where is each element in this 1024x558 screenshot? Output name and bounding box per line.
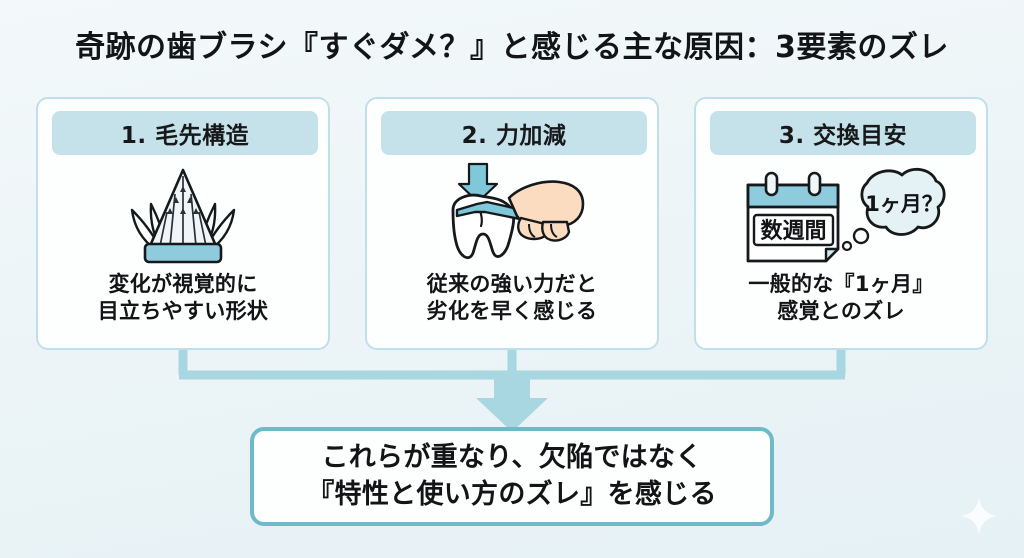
factor-card-1-header-label: 1. 毛先構造 — [121, 116, 249, 150]
factor-card-1-caption-line2: 目立ちやすい形状 — [38, 298, 328, 325]
factor-card-2-caption-line2: 劣化を早く感じる — [367, 298, 657, 325]
conclusion-box: これらが重なり、欠陥ではなく 『特性と使い方のズレ』を感じる — [250, 427, 774, 526]
factor-card-3-caption-line1: 一般的な『1ヶ月』 — [696, 271, 986, 298]
sparkle-icon — [958, 495, 1000, 537]
thought-bubble-label: 1ヶ月？ — [865, 192, 943, 216]
factor-card-2: 2. 力加減 従来の強い力だと 劣 — [365, 97, 659, 350]
conclusion-line-2: 『特性と使い方のズレ』を感じる — [307, 477, 717, 513]
factor-card-3-caption: 一般的な『1ヶ月』 感覚とのズレ — [696, 271, 986, 326]
page-title: 奇跡の歯ブラシ『すぐダメ？』と感じる主な原因：3要素のズレ — [0, 22, 1024, 66]
infographic-canvas: 奇跡の歯ブラシ『すぐダメ？』と感じる主な原因：3要素のズレ 1. 毛先構造 — [0, 0, 1024, 558]
factor-card-1-header: 1. 毛先構造 — [52, 111, 318, 155]
connector-lines — [0, 340, 1024, 440]
connector-down-arrow-icon — [476, 375, 548, 432]
conclusion-line-1: これらが重なり、欠陥ではなく — [321, 440, 702, 476]
factor-card-3: 3. 交換目安 数週間 1ヶ月？ — [694, 97, 988, 350]
factor-card-1-caption-line1: 変化が視覚的に — [38, 271, 328, 298]
calendar-thought-bubble-icon: 数週間 1ヶ月？ — [696, 161, 986, 271]
factor-card-2-header: 2. 力加減 — [381, 111, 647, 155]
factor-card-1-caption: 変化が視覚的に 目立ちやすい形状 — [38, 271, 328, 326]
hand-toothbrush-pressure-icon — [367, 161, 657, 271]
factor-card-2-header-label: 2. 力加減 — [462, 116, 567, 150]
factor-card-2-caption: 従来の強い力だと 劣化を早く感じる — [367, 271, 657, 326]
bristle-cone-icon — [38, 161, 328, 271]
factor-card-3-header: 3. 交換目安 — [710, 111, 976, 155]
factor-card-2-caption-line1: 従来の強い力だと — [367, 271, 657, 298]
factor-card-3-caption-line2: 感覚とのズレ — [696, 298, 986, 325]
factor-card-3-header-label: 3. 交換目安 — [779, 116, 907, 150]
calendar-label: 数週間 — [760, 218, 826, 244]
factor-card-1: 1. 毛先構造 — [36, 97, 330, 350]
